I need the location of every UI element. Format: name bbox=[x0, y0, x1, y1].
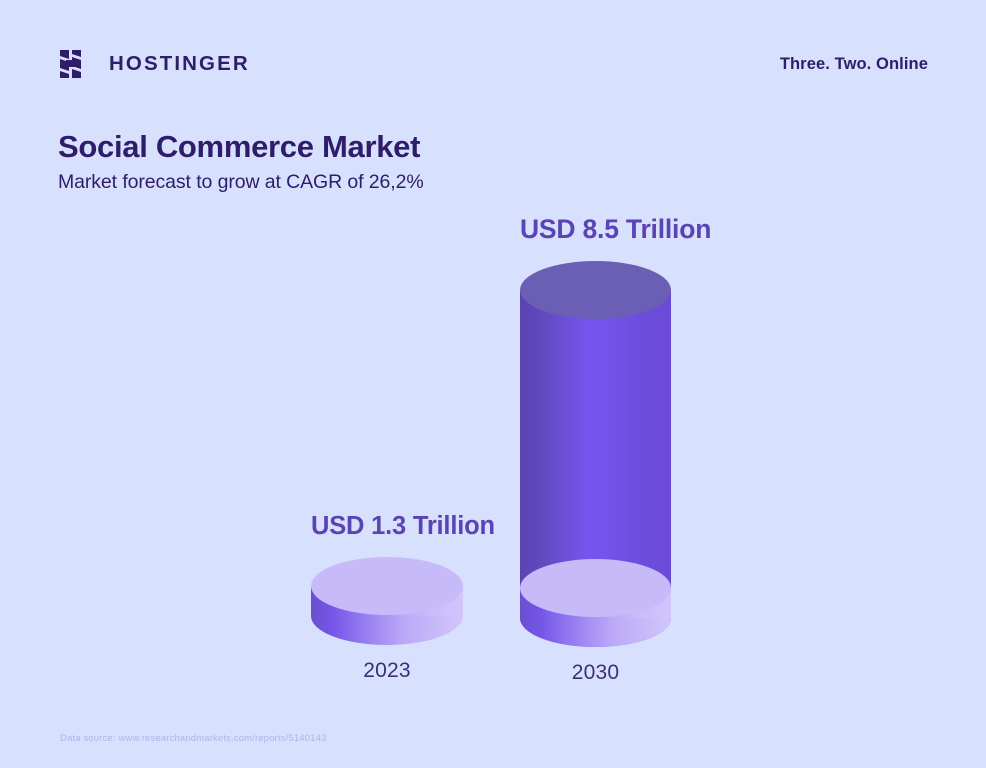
bar-2030: USD 8.5 Trillion 2030 bbox=[520, 214, 671, 685]
cylinder-2030-base-top-cap bbox=[520, 559, 671, 617]
cylinder-2023 bbox=[311, 557, 463, 645]
cylinder-2030-top-cap bbox=[520, 261, 671, 319]
cylinder-2030-base-segment bbox=[520, 559, 671, 647]
bar-value-label-2023: USD 1.3 Trillion bbox=[311, 512, 463, 541]
bar-2023: USD 1.3 Trillion 2023 bbox=[311, 512, 463, 683]
cylinder-2023-top-cap bbox=[311, 557, 463, 615]
cylinder-2030 bbox=[520, 261, 671, 647]
axis-label-2023: 2023 bbox=[311, 659, 463, 683]
axis-label-2030: 2030 bbox=[520, 661, 671, 685]
data-source-note: Data source: www.researchandmarkets.com/… bbox=[60, 733, 326, 744]
chart-plot-area: USD 1.3 Trillion 2023 USD 8.5 Trillion 2… bbox=[0, 0, 986, 768]
bar-value-label-2030: USD 8.5 Trillion bbox=[520, 214, 671, 245]
